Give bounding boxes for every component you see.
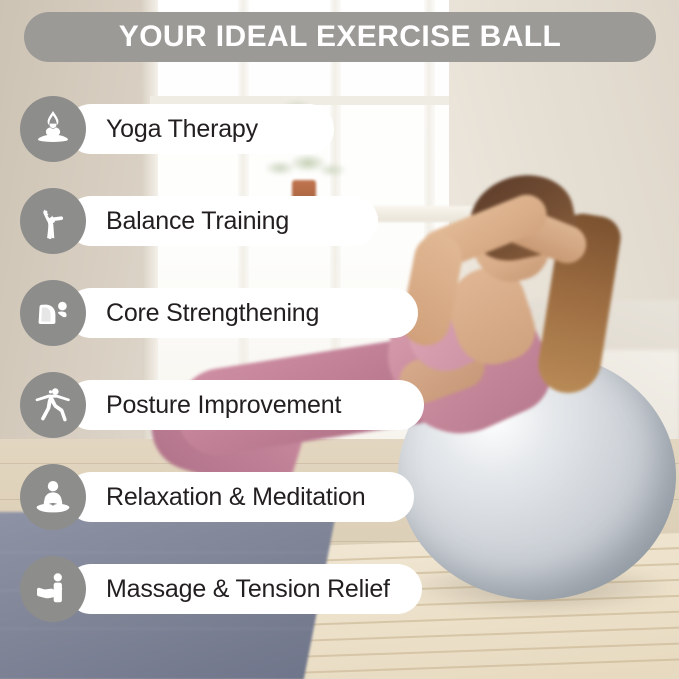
exercise-ball-infographic: YOUR IDEAL EXERCISE BALL Yoga Therapy [0,0,679,679]
feature-row-balance-training: Balance Training [0,184,679,276]
feature-label: Relaxation & Meditation [106,483,365,512]
feature-label: Posture Improvement [106,391,341,420]
sit-up-icon [31,291,75,335]
feature-row-core-strengthening: Core Strengthening [0,276,679,368]
feature-pill: Relaxation & Meditation [66,472,414,522]
feature-badge [20,372,86,438]
feature-row-relaxation-meditation: Relaxation & Meditation [0,460,679,552]
feature-badge [20,464,86,530]
feature-label: Massage & Tension Relief [106,575,390,604]
feature-label: Core Strengthening [106,299,319,328]
feature-pill: Core Strengthening [66,288,418,338]
title-banner: YOUR IDEAL EXERCISE BALL [24,12,656,62]
feature-list: Yoga Therapy Balance Training [0,92,679,644]
tree-pose-icon [31,199,75,243]
feature-pill: Yoga Therapy [66,104,334,154]
feature-pill: Posture Improvement [66,380,424,430]
feature-pill: Massage & Tension Relief [66,564,422,614]
feature-label: Balance Training [106,207,289,236]
lotus-pose-icon [31,107,75,151]
warrior-pose-icon [31,383,75,427]
feature-row-yoga-therapy: Yoga Therapy [0,92,679,184]
feature-badge [20,96,86,162]
feature-badge [20,556,86,622]
meditation-pose-icon [31,475,75,519]
feature-label: Yoga Therapy [106,115,258,144]
feature-badge [20,280,86,346]
feature-pill: Balance Training [66,196,378,246]
feature-badge [20,188,86,254]
page-title: YOUR IDEAL EXERCISE BALL [119,20,561,54]
feature-row-posture-improvement: Posture Improvement [0,368,679,460]
massage-therapy-icon [31,567,75,611]
feature-row-massage-tension-relief: Massage & Tension Relief [0,552,679,644]
